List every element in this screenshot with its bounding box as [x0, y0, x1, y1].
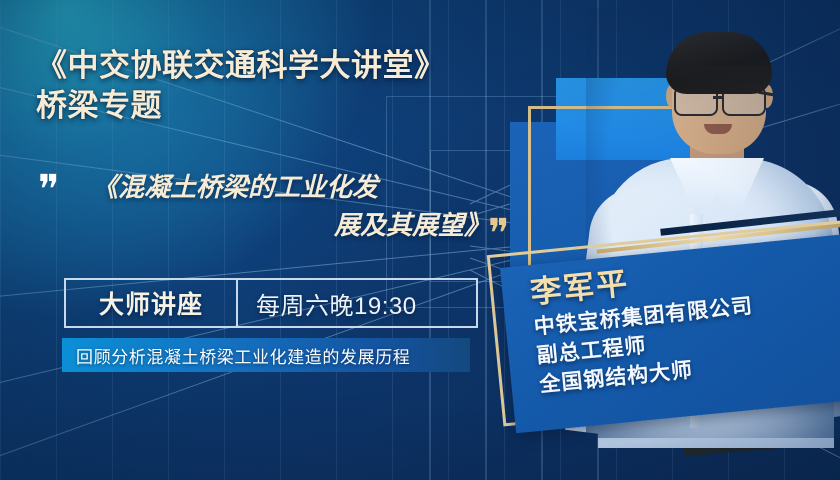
description-text: 回顾分析混凝土桥梁工业化建造的发展历程	[62, 343, 410, 368]
lecture-tag-label: 大师讲座	[66, 280, 236, 326]
speaker-card: 李军平 中铁宝桥集团有限公司 副总工程师 全国钢结构大师	[500, 233, 840, 435]
topic-quote-line1: 《混凝土桥梁的工业化发	[84, 168, 504, 206]
poster-canvas: 《中交协联交通科学大讲堂》 桥梁专题 ❞ 《混凝土桥梁的工业化发 展及其展望》 …	[0, 0, 840, 480]
topic-quote-text: 《混凝土桥梁的工业化发 展及其展望》	[84, 168, 504, 244]
quote-mark-open: ❞	[38, 170, 58, 210]
page-title-line2: 桥梁专题	[36, 86, 506, 126]
quote-mark-close: ❞	[488, 214, 508, 254]
page-title: 《中交协联交通科学大讲堂》 桥梁专题	[36, 46, 506, 126]
lecture-info-box: 大师讲座 每周六晚19:30	[64, 278, 478, 328]
description-bar: 回顾分析混凝土桥梁工业化建造的发展历程	[62, 338, 470, 372]
topic-quote-line2: 展及其展望》	[84, 206, 504, 244]
lecture-schedule-label: 每周六晚19:30	[238, 280, 417, 326]
topic-quote: ❞ 《混凝土桥梁的工业化发 展及其展望》 ❞	[36, 168, 516, 264]
page-title-line1: 《中交协联交通科学大讲堂》	[36, 48, 446, 83]
speaker-card-content: 李军平 中铁宝桥集团有限公司 副总工程师 全国钢结构大师	[500, 233, 840, 433]
